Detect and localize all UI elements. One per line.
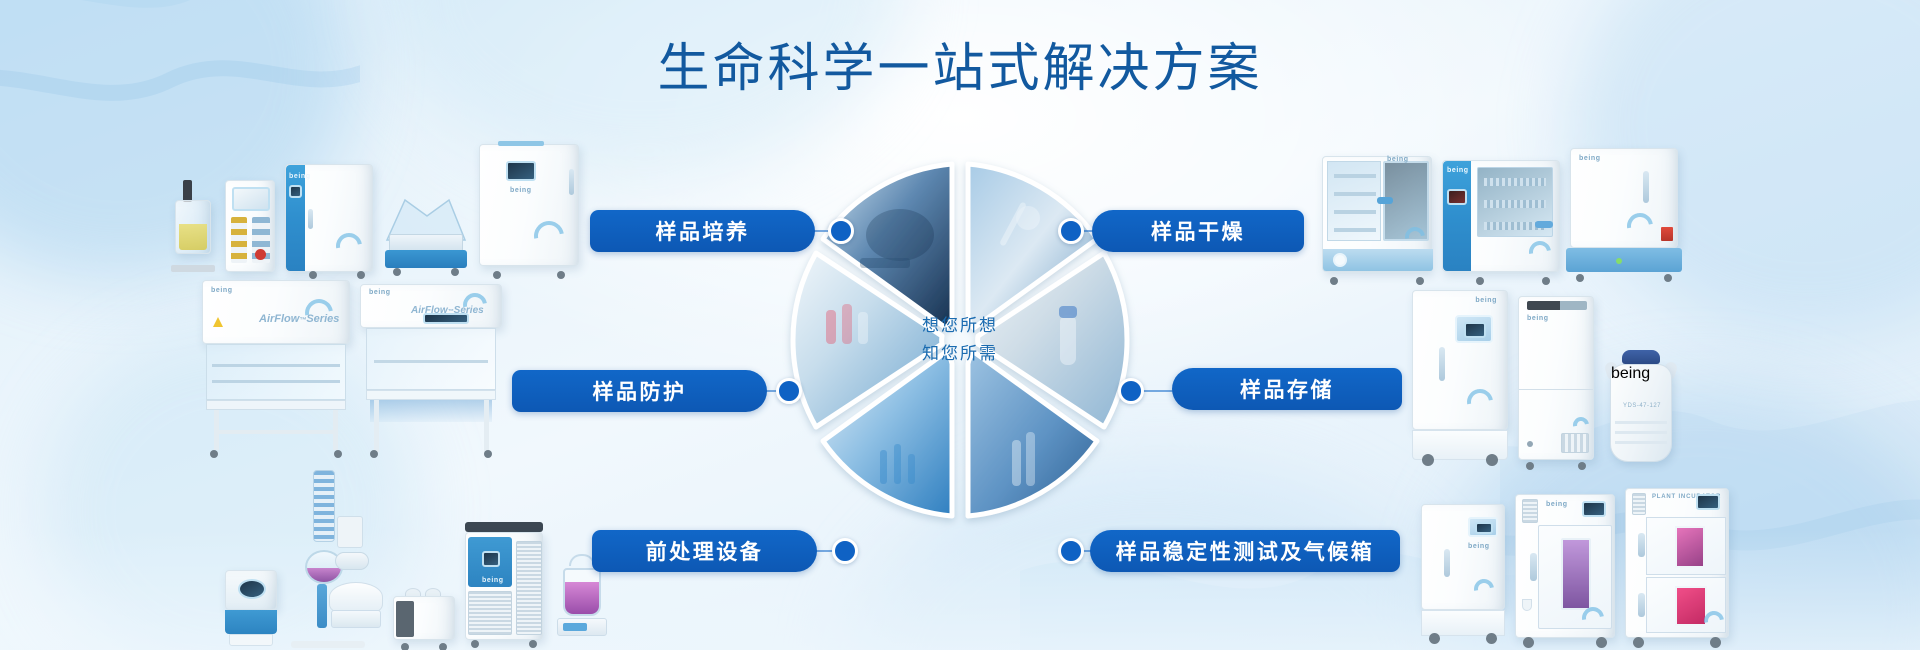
- vacuum-drying-oven: being: [1322, 156, 1432, 278]
- node-dot-storage[interactable]: [1118, 378, 1144, 404]
- centrifuge: [225, 570, 277, 648]
- rotary-evaporator: [287, 498, 383, 648]
- cryogenic-tank: being YDS-47-127: [1604, 350, 1678, 468]
- laminar-flow-hood: being AirFlow™Series: [360, 284, 502, 456]
- equipment-cluster-cultivation: being being: [150, 132, 600, 272]
- category-label-drying: 样品干燥: [1151, 216, 1245, 246]
- node-dot-drying[interactable]: [1058, 218, 1084, 244]
- co2-incubator: being: [285, 164, 373, 272]
- category-label-storage: 样品存储: [1240, 374, 1334, 404]
- node-dot-pretreatment[interactable]: [832, 538, 858, 564]
- page-title: 生命科学一站式解决方案: [0, 40, 1920, 98]
- control-console: [225, 180, 275, 272]
- category-pill-pretreatment[interactable]: 前处理设备: [592, 530, 817, 572]
- equipment-cluster-drying: being being: [1290, 128, 1710, 278]
- category-pill-drying[interactable]: 样品干燥: [1092, 210, 1304, 252]
- node-dot-cultivation[interactable]: [828, 218, 854, 244]
- ultra-low-freezer: being: [1412, 290, 1508, 468]
- stability-chamber: being: [1421, 504, 1505, 646]
- solution-wheel: [760, 140, 1160, 540]
- climate-chamber: being: [1515, 494, 1615, 646]
- vacuum-pump: [393, 596, 455, 648]
- category-label-cultivation: 样品培养: [656, 216, 750, 246]
- recirculating-chiller: being: [465, 528, 543, 648]
- category-label-pretreatment: 前处理设备: [646, 536, 764, 566]
- high-temp-oven: being: [1570, 148, 1678, 278]
- biosafety-cabinet: being AirFlow™Series: [202, 280, 350, 456]
- equipment-cluster-protection: being AirFlow™Series being AirFlow™Serie…: [192, 276, 512, 456]
- bioreactor-fermenter: [171, 186, 215, 272]
- category-label-stability: 样品稳定性测试及气候箱: [1116, 536, 1375, 566]
- life-science-solution-banner: 生命科学一站式解决方案 being: [0, 0, 1920, 650]
- category-pill-stability[interactable]: 样品稳定性测试及气候箱: [1090, 530, 1400, 572]
- node-dot-protection[interactable]: [776, 378, 802, 404]
- equipment-cluster-storage: being being: [1360, 278, 1730, 468]
- node-dot-stability[interactable]: [1058, 538, 1084, 564]
- plant-growth-incubator: PLANT INCUBATOR: [1625, 488, 1729, 646]
- forced-air-oven: being: [1442, 160, 1560, 278]
- large-incubator: being: [479, 144, 579, 272]
- wheel-petals: [760, 140, 1160, 540]
- category-pill-cultivation[interactable]: 样品培养: [590, 210, 815, 252]
- category-label-protection: 样品防护: [593, 376, 687, 406]
- category-pill-storage[interactable]: 样品存储: [1172, 368, 1402, 410]
- lab-refrigerator: being: [1518, 296, 1594, 468]
- equipment-cluster-stability: being being: [1395, 478, 1755, 646]
- shaking-incubator: [383, 194, 469, 272]
- equipment-cluster-pretreatment: being: [218, 478, 618, 648]
- category-pill-protection[interactable]: 样品防护: [512, 370, 767, 412]
